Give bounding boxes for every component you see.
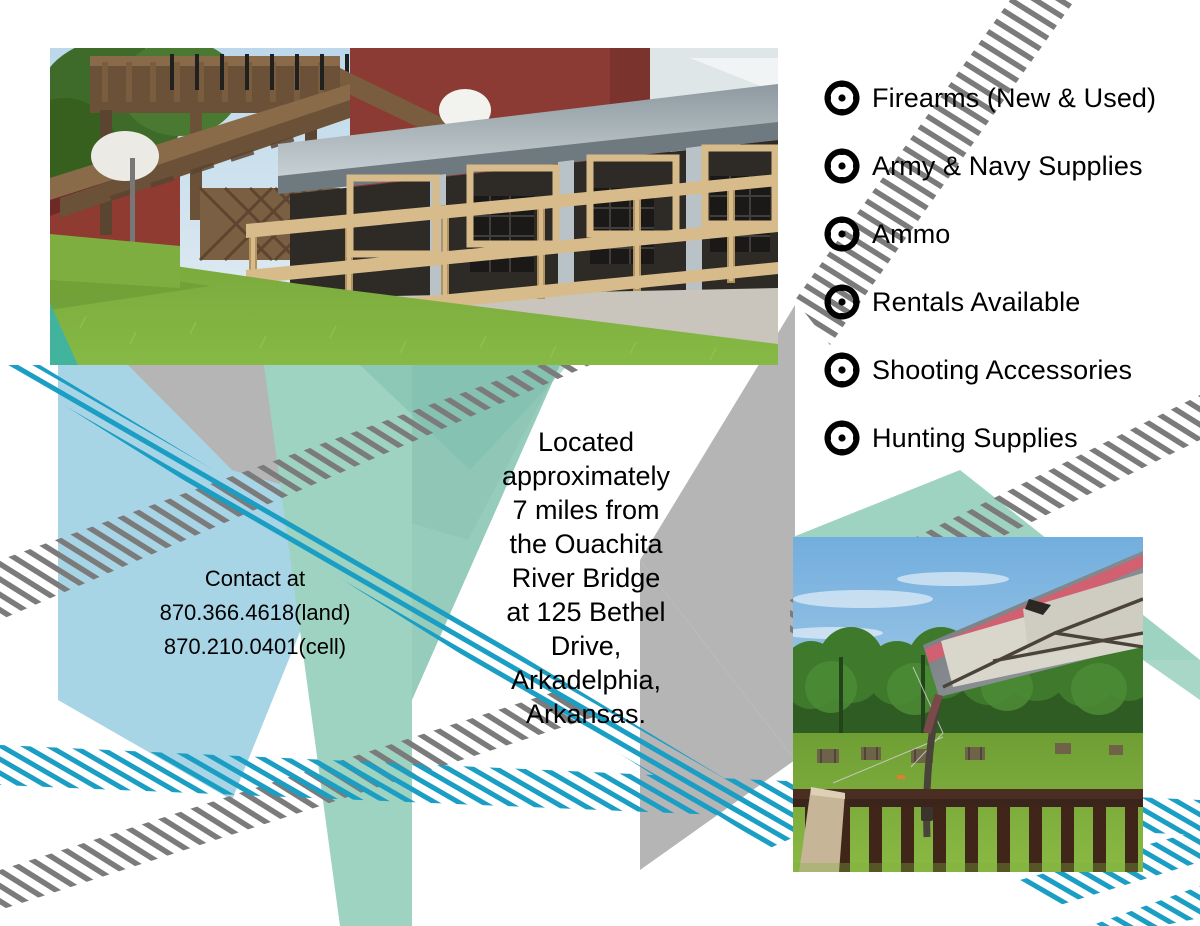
feature-label: Firearms (New & Used) — [872, 85, 1156, 112]
location-line: Drive, — [466, 629, 706, 663]
location-line: Located — [466, 425, 706, 459]
feature-item-shooting-accessories: Shooting Accessories — [822, 336, 1200, 404]
location-line: Arkansas. — [466, 697, 706, 731]
target-icon — [822, 350, 862, 390]
feature-label: Shooting Accessories — [872, 357, 1132, 384]
feature-item-rentals: Rentals Available — [822, 268, 1200, 336]
location-line: 7 miles from — [466, 493, 706, 527]
feature-item-firearms: Firearms (New & Used) — [822, 64, 1200, 132]
target-icon — [822, 282, 862, 322]
contact-phone-cell[interactable]: 870.210.0401(cell) — [120, 630, 390, 664]
shape-teal-bottom-right — [1143, 660, 1200, 700]
feature-label: Rentals Available — [872, 289, 1080, 316]
location-text: Located approximately 7 miles from the O… — [466, 425, 706, 731]
location-line: at 125 Bethel — [466, 595, 706, 629]
location-line: River Bridge — [466, 561, 706, 595]
feature-item-ammo: Ammo — [822, 200, 1200, 268]
feature-label: Hunting Supplies — [872, 425, 1078, 452]
photo-range-field — [793, 537, 1143, 872]
contact-phone-landline[interactable]: 870.366.4618(land) — [120, 596, 390, 630]
target-icon — [822, 418, 862, 458]
location-line: Arkadelphia, — [466, 663, 706, 697]
feature-item-army-navy: Army & Navy Supplies — [822, 132, 1200, 200]
location-line: the Ouachita — [466, 527, 706, 561]
feature-item-hunting-supplies: Hunting Supplies — [822, 404, 1200, 472]
feature-list: Firearms (New & Used) Army & Navy Suppli… — [822, 64, 1200, 472]
contact-lead: Contact at — [120, 562, 390, 596]
target-icon — [822, 214, 862, 254]
target-icon — [822, 146, 862, 186]
feature-label: Ammo — [872, 221, 950, 248]
target-icon — [822, 78, 862, 118]
feature-label: Army & Navy Supplies — [872, 153, 1143, 180]
photo-range-benches — [50, 48, 778, 365]
location-line: approximately — [466, 459, 706, 493]
contact-text: Contact at 870.366.4618(land) 870.210.04… — [120, 562, 390, 664]
flyer-page: Firearms (New & Used) Army & Navy Suppli… — [0, 0, 1200, 926]
